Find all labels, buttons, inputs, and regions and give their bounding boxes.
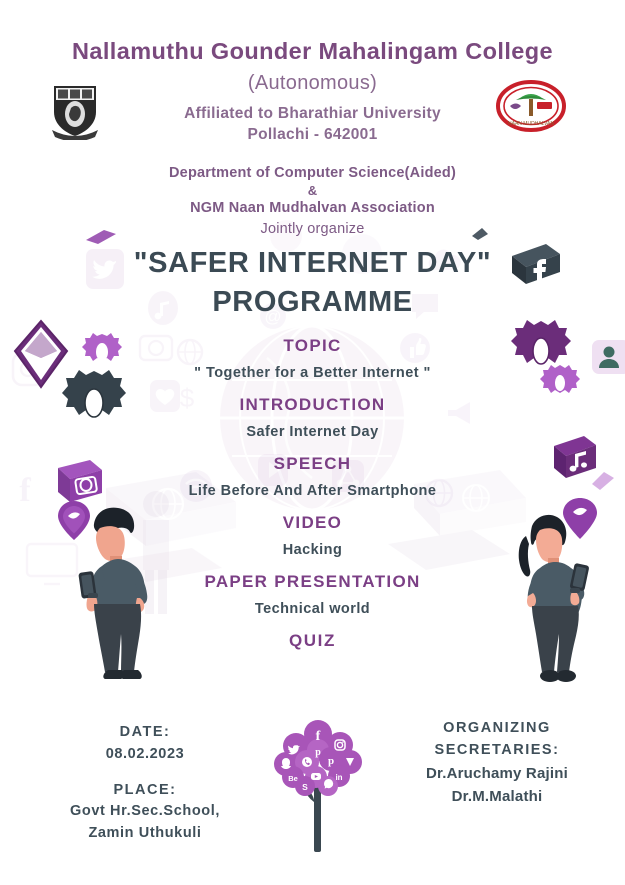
date-value: 08.02.2023 — [30, 744, 260, 766]
college-name: Nallamuthu Gounder Mahalingam College — [44, 38, 581, 66]
programme-detail: Safer Internet Day — [0, 424, 625, 440]
programme-item: PAPER PRESENTATION Technical world — [0, 572, 625, 617]
programme-detail: Technical world — [0, 601, 625, 617]
programme-item: SPEECH Life Before And After Smartphone — [0, 454, 625, 499]
date-place-block: DATE: 08.02.2023 PLACE: Govt Hr.Sec.Scho… — [30, 722, 260, 845]
programme-detail: Hacking — [0, 542, 625, 558]
programme-heading: PAPER PRESENTATION — [0, 572, 625, 592]
organizing-label-line2: SECRETARIES: — [382, 740, 612, 762]
event-title: "SAFER INTERNET DAY" PROGRAMME — [0, 244, 625, 321]
department-name: Department of Computer Science(Aided) — [0, 163, 625, 184]
programme-detail: " Together for a Better Internet " — [0, 365, 625, 381]
programme-heading: QUIZ — [0, 631, 625, 651]
association-name: NGM Naan Mudhalvan Association — [0, 198, 625, 219]
event-title-line1: "SAFER INTERNET DAY" — [0, 244, 625, 283]
programme-heading: SPEECH — [0, 454, 625, 474]
programme-list: TOPIC " Together for a Better Internet "… — [0, 336, 625, 665]
date-label: DATE: — [30, 722, 260, 744]
college-crest-logo — [44, 80, 106, 140]
ampersand: & — [0, 184, 625, 198]
programme-item: VIDEO Hacking — [0, 513, 625, 558]
organizer-block: Department of Computer Science(Aided) & … — [0, 163, 625, 240]
skype-glyph: S — [302, 782, 308, 792]
youtube-glyph — [311, 773, 321, 780]
ngm-naan-mudhalvan-logo: NAAN MUDHALVAN — [496, 80, 566, 132]
behance-glyph: Be — [288, 774, 298, 783]
organizing-secretaries-block: ORGANIZING SECRETARIES: Dr.Aruchamy Raji… — [382, 718, 612, 808]
facebook-glyph: f — [316, 729, 321, 744]
jointly-organize-label: Jointly organize — [0, 219, 625, 240]
place-line1: Govt Hr.Sec.School, — [30, 801, 260, 823]
event-title-line2: PROGRAMME — [0, 283, 625, 322]
poster-canvas: @ $ — [0, 0, 625, 885]
svg-text:NAAN MUDHALVAN: NAAN MUDHALVAN — [508, 121, 554, 127]
place-line2: Zamin Uthukuli — [30, 823, 260, 845]
programme-item: TOPIC " Together for a Better Internet " — [0, 336, 625, 381]
social-media-tree: f p p Be in S — [262, 714, 374, 854]
programme-heading: TOPIC — [0, 336, 625, 356]
programme-item: QUIZ — [0, 631, 625, 651]
programme-item: INTRODUCTION Safer Internet Day — [0, 395, 625, 440]
whatsapp-glyph — [302, 757, 312, 767]
programme-heading: INTRODUCTION — [0, 395, 625, 415]
linkedin-glyph: in — [335, 773, 342, 782]
organizing-label-line1: ORGANIZING — [382, 718, 612, 740]
secretary-name-1: Dr.Aruchamy Rajini — [382, 762, 612, 785]
pinterest-glyph: p — [328, 755, 334, 767]
programme-detail: Life Before And After Smartphone — [0, 483, 625, 499]
pinterest-glyph-top: p — [315, 747, 321, 758]
secretary-name-2: Dr.M.Malathi — [382, 785, 612, 808]
programme-heading: VIDEO — [0, 513, 625, 533]
place-label: PLACE: — [30, 780, 260, 802]
